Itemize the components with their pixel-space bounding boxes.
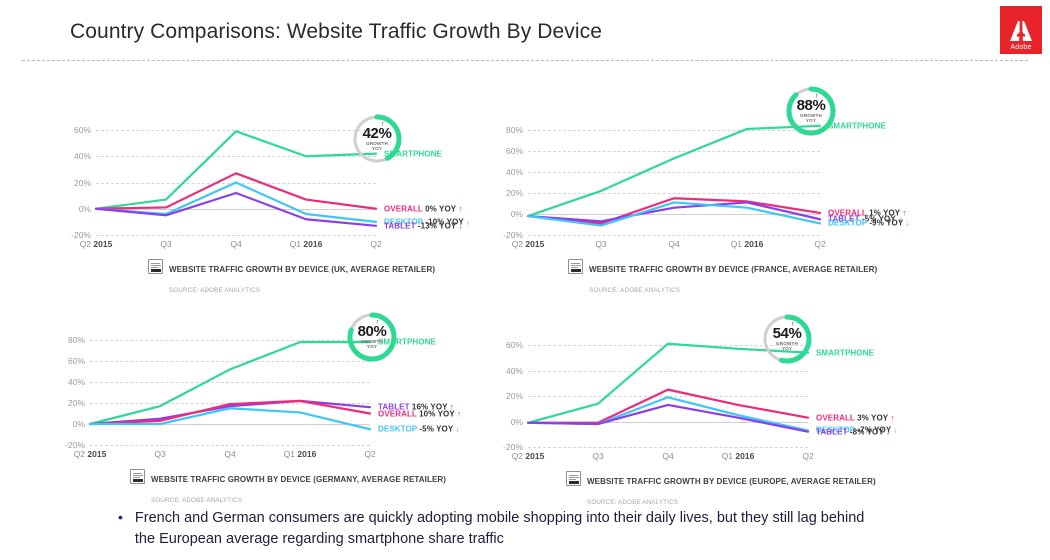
chart-caption-france: WEBSITE TRAFFIC GROWTH BY DEVICE (FRANCE… [568,258,877,298]
trend-arrow-icon: ↓ [453,425,459,434]
y-axis-tick-label: 20% [68,398,85,408]
growth-badge-europe: ↑54%GROWTHYOY [760,312,814,366]
caption-source: SOURCE: ADOBE ANALYTICS [169,287,260,294]
series-value: -13% YOY [418,221,456,230]
x-axis-tick-label: Q3 [595,239,606,249]
series-lines [96,130,376,235]
plot-area-germany: 80%60%40%20%0%-20%Q2 2015Q3Q4Q1 2016Q2 [90,340,370,445]
series-end-label-overall: OVERALL 0% YOY ↑ [384,204,463,213]
gridline [528,447,808,448]
growth-badge-france: ↑88%GROWTHYOY [784,84,838,138]
y-axis-tick-label: 80% [68,335,85,345]
badge-percent: 80% [345,323,399,340]
series-label: OVERALL [384,204,423,213]
badge-sublabel: GROWTHYOY [760,341,814,352]
x-axis-tick-label: Q3 [160,239,171,249]
series-line-overall [528,390,808,423]
badge-percent: 42% [350,125,404,142]
adobe-logo: Adobe [1000,6,1042,54]
badge-percent: 88% [784,97,838,114]
page-title: Country Comparisons: Website Traffic Gro… [70,20,602,44]
y-axis-tick-label: 80% [506,125,523,135]
caption-title: WEBSITE TRAFFIC GROWTH BY DEVICE (EUROPE… [587,477,876,486]
trend-arrow-icon: ↓ [456,221,462,230]
series-lines [528,130,820,235]
series-value: 0% YOY [425,204,456,213]
x-axis-tick-label: Q2 2015 [512,239,545,249]
y-axis-tick-label: 0% [79,204,91,214]
x-axis-tick-label: Q2 [370,239,381,249]
caption-source: SOURCE: ADOBE ANALYTICS [587,499,678,506]
x-axis-tick-label: Q1 2016 [284,449,317,459]
y-axis-tick-label: 60% [68,356,85,366]
y-axis-tick-label: 40% [68,377,85,387]
chart-panel-uk: 60%40%20%0%-20%Q2 2015Q3Q4Q1 2016Q2SMART… [96,130,376,235]
x-axis-tick-label: Q2 2015 [80,239,113,249]
x-axis-tick-label: Q4 [230,239,241,249]
caption-title: WEBSITE TRAFFIC GROWTH BY DEVICE (UK, AV… [169,265,435,274]
x-axis-tick-label: Q1 2016 [290,239,323,249]
y-axis-tick-label: 20% [506,391,523,401]
x-axis-tick-label: Q3 [592,451,603,461]
y-axis-tick-label: 20% [74,178,91,188]
adobe-wordmark: Adobe [1010,44,1031,51]
caption-source: SOURCE: ADOBE ANALYTICS [151,497,242,504]
series-value: -8% YOY [850,427,884,436]
x-axis-tick-label: Q2 [364,449,375,459]
trend-arrow-icon: ↓ [884,427,890,436]
series-label: OVERALL [816,413,855,422]
badge-sublabel: GROWTHYOY [350,141,404,152]
series-line-smartphone [90,342,370,424]
bullet-list: • French and German consumers are quickl… [118,508,878,550]
growth-badge-germany: ↑80%GROWTHYOY [345,310,399,364]
chart-panel-france: 80%60%40%20%0%-20%Q2 2015Q3Q4Q1 2016Q2SM… [528,130,820,235]
chart-caption-germany: WEBSITE TRAFFIC GROWTH BY DEVICE (GERMAN… [130,468,446,508]
report-document-icon [566,471,581,486]
series-value: 10% YOY [419,409,455,418]
badge-sublabel: GROWTHYOY [345,339,399,350]
series-end-label-tablet: TABLET -8% YOY ↓ [816,427,890,436]
chart-caption-europe: WEBSITE TRAFFIC GROWTH BY DEVICE (EUROPE… [566,470,876,510]
series-label: DESKTOP [828,219,867,228]
series-value: -9% YOY [869,219,903,228]
growth-badge-uk: ↑42%GROWTHYOY [350,112,404,166]
series-line-desktop [90,408,370,429]
gridline [528,235,820,236]
report-document-icon [130,469,145,484]
y-axis-tick-label: 40% [506,366,523,376]
series-value: -5% YOY [419,425,453,434]
x-axis-tick-label: Q1 2016 [722,451,755,461]
x-axis-tick-label: Q4 [662,451,673,461]
series-value: 3% YOY [857,413,888,422]
gridline [90,445,370,446]
series-line-smartphone [96,131,376,208]
y-axis-tick-label: 60% [506,146,523,156]
trend-arrow-icon: ↑ [888,413,894,422]
series-label: OVERALL [378,409,417,418]
series-label: TABLET [384,221,416,230]
report-document-icon [148,259,163,274]
y-axis-tick-label: 0% [73,419,85,429]
series-end-label-smartphone: SMARTPHONE [816,348,874,357]
y-axis-tick-label: 40% [74,151,91,161]
trend-arrow-icon: ↓ [903,219,909,228]
series-end-label-overall: OVERALL 10% YOY ↑ [378,409,461,418]
series-line-desktop [528,397,808,430]
x-axis-tick-label: Q3 [154,449,165,459]
x-axis-tick-label: Q4 [668,239,679,249]
y-axis-tick-label: 20% [506,188,523,198]
badge-percent: 54% [760,325,814,342]
y-axis-tick-label: 60% [506,340,523,350]
series-end-label-desktop: DESKTOP -5% YOY ↓ [378,425,460,434]
bullet-text: French and German consumers are quickly … [135,508,878,550]
x-axis-tick-label: Q2 [802,451,813,461]
trend-arrow-icon: ↑ [455,409,461,418]
series-lines [90,340,370,445]
y-axis-tick-label: 0% [511,417,523,427]
series-end-label-desktop: DESKTOP -9% YOY ↓ [828,219,910,228]
series-label: SMARTPHONE [816,348,874,357]
x-axis-tick-label: Q1 2016 [731,239,764,249]
gridline [96,235,376,236]
trend-arrow-icon: ↓ [464,217,470,226]
series-label: TABLET [816,427,848,436]
report-document-icon [568,259,583,274]
x-axis-tick-label: Q2 2015 [512,451,545,461]
plot-area-france: 80%60%40%20%0%-20%Q2 2015Q3Q4Q1 2016Q2 [528,130,820,235]
series-line-tablet [96,193,376,226]
y-axis-tick-label: 0% [511,209,523,219]
chart-panel-germany: 80%60%40%20%0%-20%Q2 2015Q3Q4Q1 2016Q2SM… [90,340,370,445]
header-divider [22,60,1028,61]
trend-arrow-icon: ↓ [891,426,897,435]
adobe-a-icon [1008,19,1034,43]
x-axis-tick-label: Q2 [814,239,825,249]
trend-arrow-icon: ↑ [456,204,462,213]
chart-caption-uk: WEBSITE TRAFFIC GROWTH BY DEVICE (UK, AV… [148,258,435,298]
plot-area-uk: 60%40%20%0%-20%Q2 2015Q3Q4Q1 2016Q2 [96,130,376,235]
bullet-marker: • [118,508,123,550]
caption-source: SOURCE: ADOBE ANALYTICS [589,287,680,294]
y-axis-tick-label: 60% [74,125,91,135]
series-end-label-overall: OVERALL 3% YOY ↑ [816,413,895,422]
caption-title: WEBSITE TRAFFIC GROWTH BY DEVICE (FRANCE… [589,265,877,274]
badge-sublabel: GROWTHYOY [784,113,838,124]
series-end-label-tablet: TABLET -13% YOY ↓ [384,221,463,230]
series-label: DESKTOP [378,425,417,434]
caption-title: WEBSITE TRAFFIC GROWTH BY DEVICE (GERMAN… [151,475,446,484]
y-axis-tick-label: 40% [506,167,523,177]
x-axis-tick-label: Q4 [224,449,235,459]
x-axis-tick-label: Q2 2015 [74,449,107,459]
